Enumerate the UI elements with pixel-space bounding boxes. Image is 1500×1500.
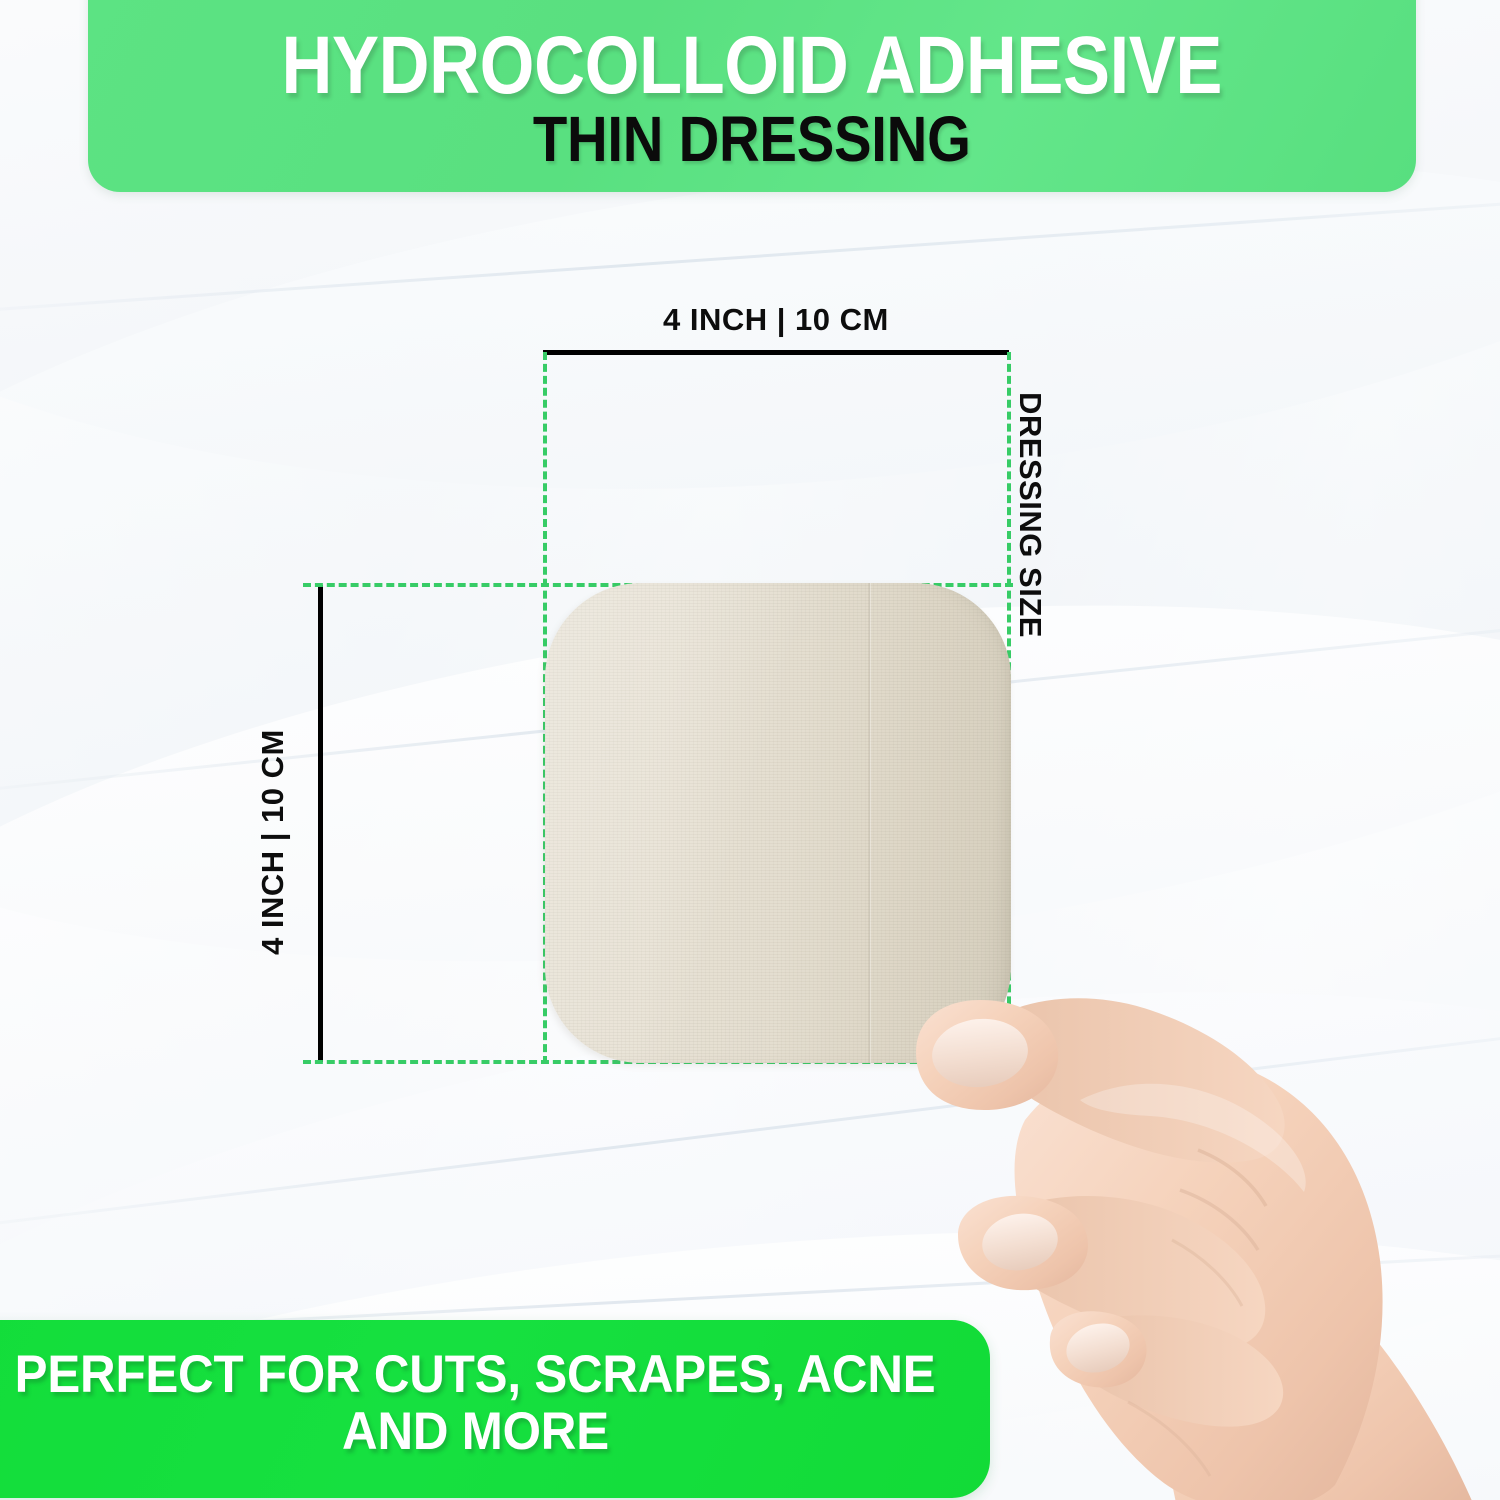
dimension-label-top: 4 INCH | 10 CM — [663, 302, 889, 338]
measure-rule-left — [318, 585, 323, 1062]
dimension-label-right: DRESSING SIZE — [1012, 392, 1048, 638]
footer-text-line2: AND MORE — [342, 1403, 609, 1460]
header-title-secondary: THIN DRESSING — [533, 109, 971, 170]
footer-banner: PERFECT FOR CUTS, SCRAPES, ACNE AND MORE — [0, 1320, 990, 1498]
footer-text-line1: PERFECT FOR CUTS, SCRAPES, ACNE — [15, 1346, 936, 1403]
header-banner: HYDROCOLLOID ADHESIVE THIN DRESSING — [88, 0, 1416, 192]
dimension-label-left: 4 INCH | 10 CM — [255, 729, 291, 955]
product-image-canvas: HYDROCOLLOID ADHESIVE THIN DRESSING 4 IN… — [0, 0, 1500, 1500]
patch-seam-line — [868, 583, 871, 1063]
measure-rule-top — [543, 350, 1009, 355]
header-title-primary: HYDROCOLLOID ADHESIVE — [282, 28, 1222, 103]
